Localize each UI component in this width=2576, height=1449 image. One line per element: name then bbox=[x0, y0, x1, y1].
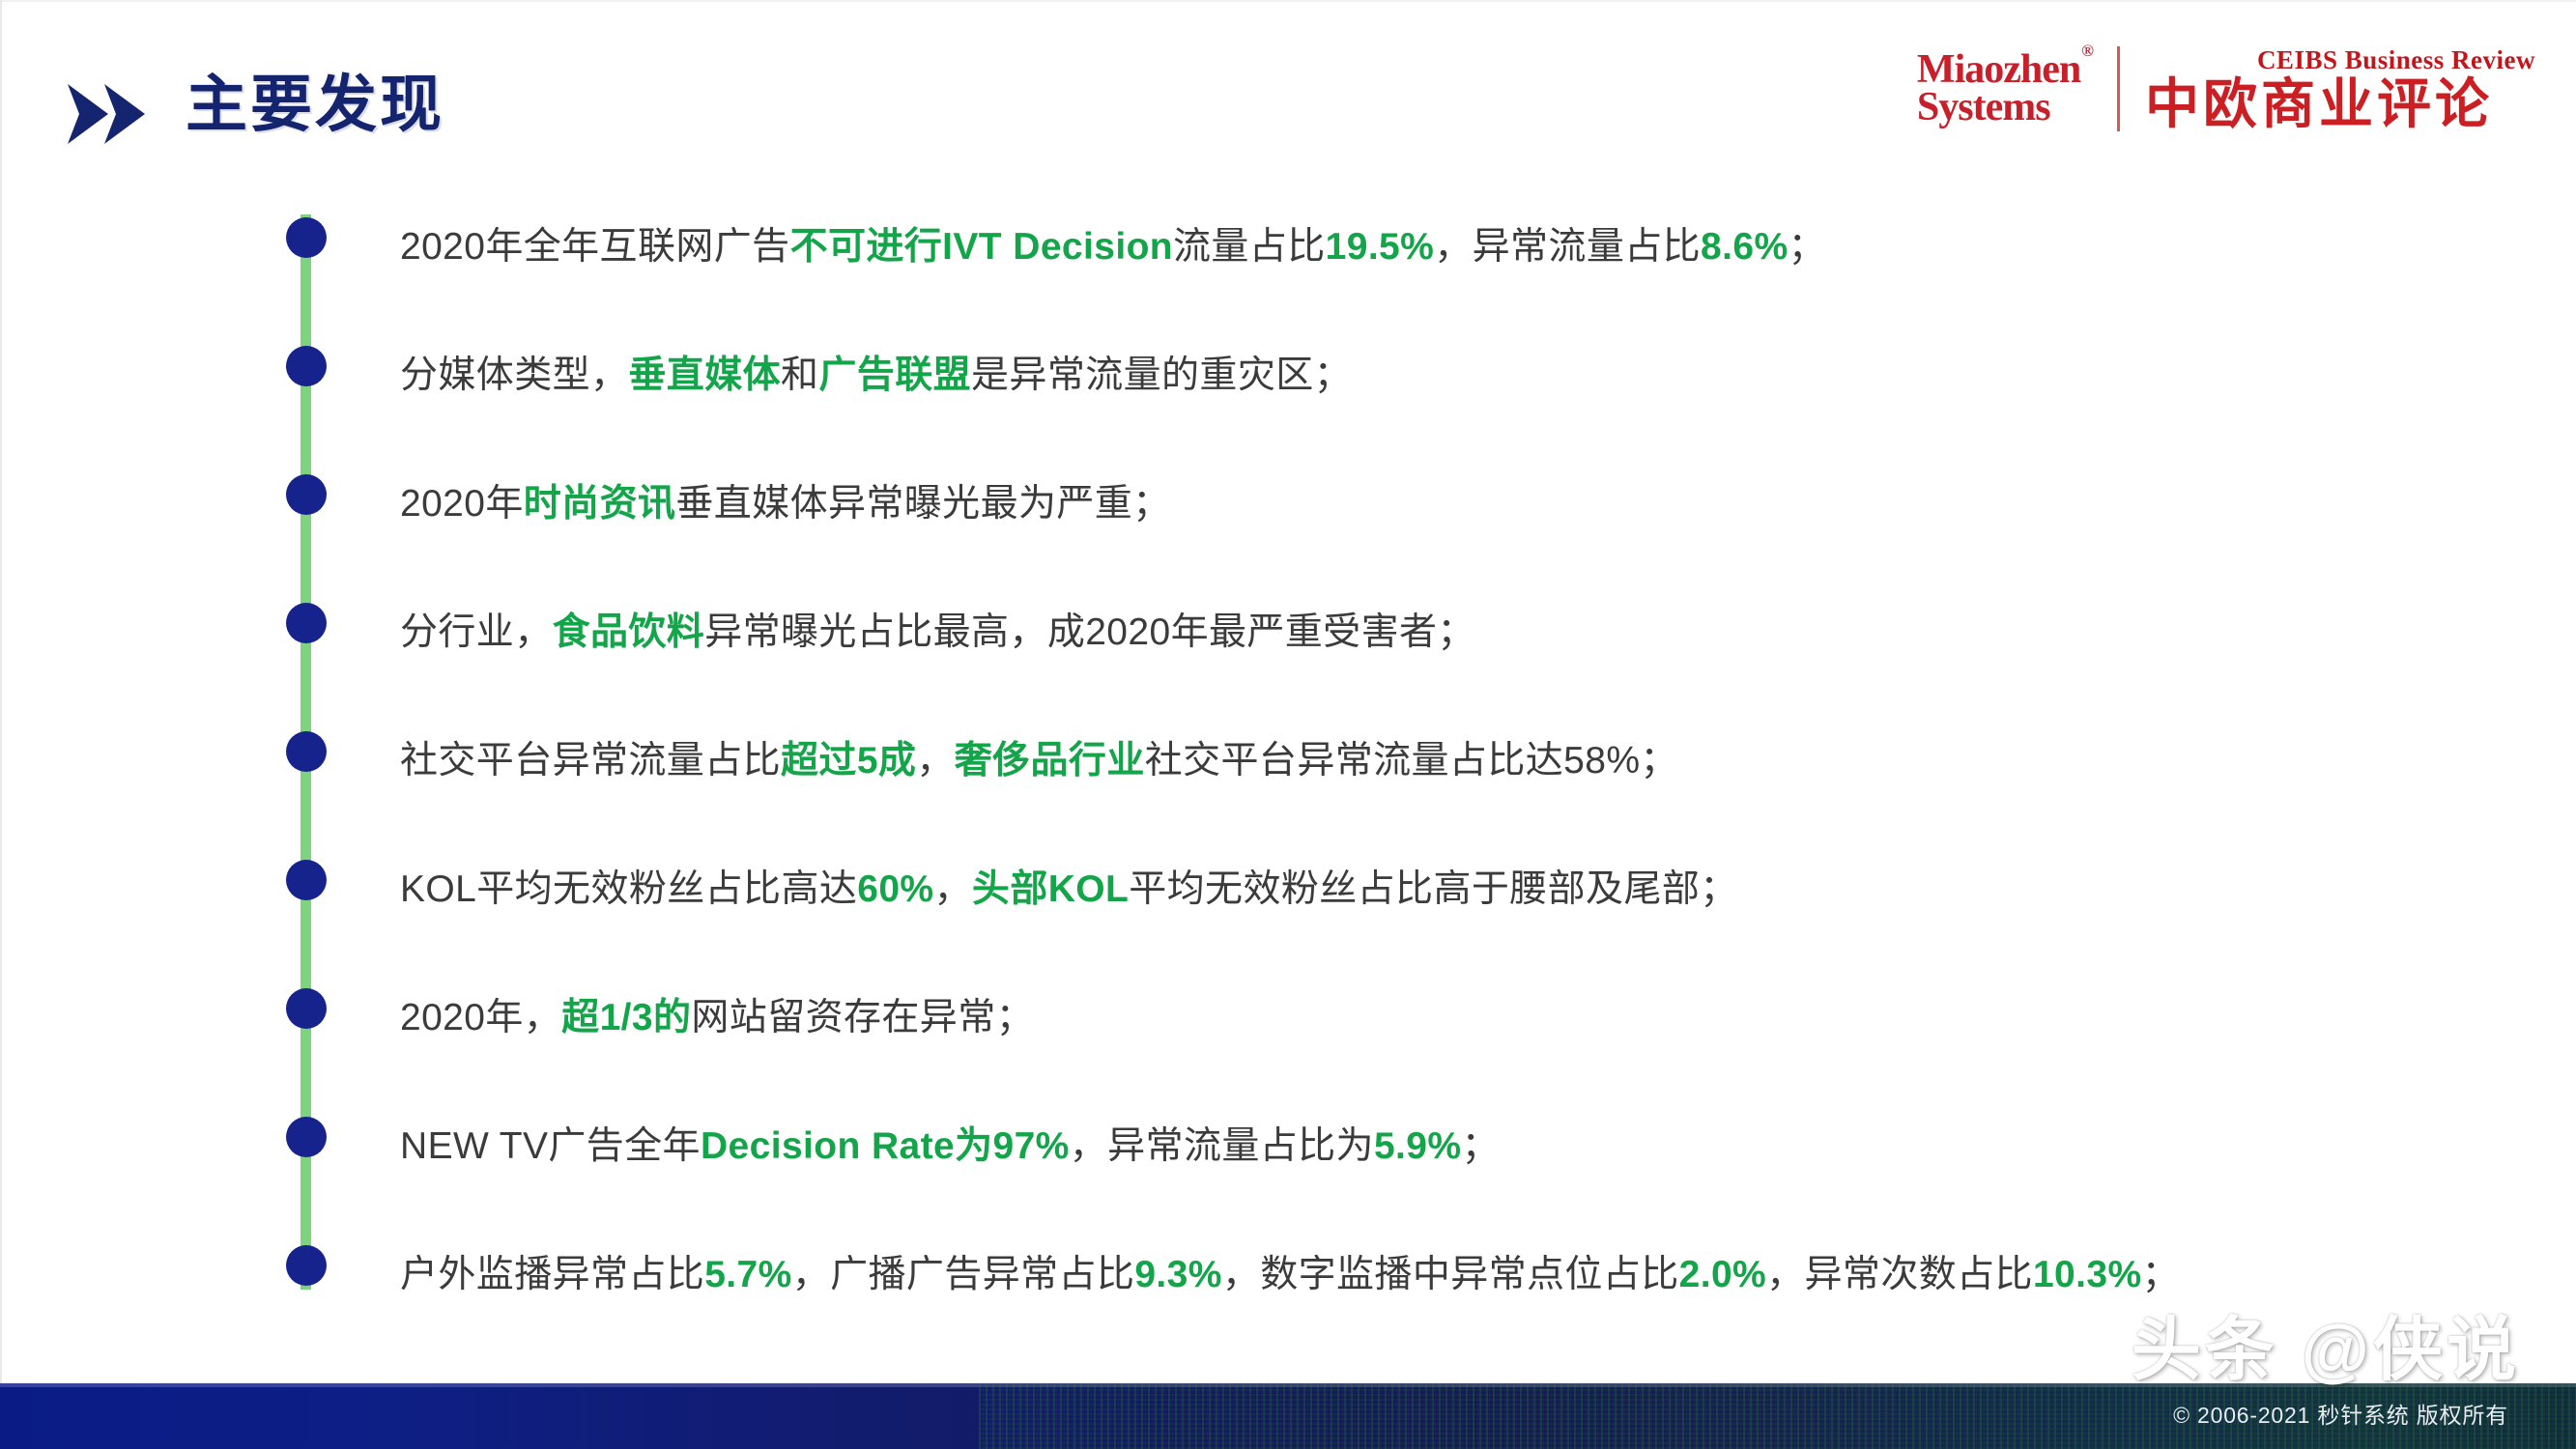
copyright-text: © 2006-2021 秒针系统 版权所有 bbox=[2173, 1397, 2508, 1430]
finding-plain: 2020年全年互联网广告 bbox=[400, 226, 790, 268]
timeline-bullet-dot bbox=[286, 603, 327, 643]
finding-text: 2020年，超1/3的网站留资存在异常； bbox=[400, 995, 1034, 1042]
finding-highlight: 5.7% bbox=[704, 1254, 792, 1295]
finding-plain: ，异常流量占比为 bbox=[1070, 1125, 1374, 1167]
finding-plain: ，异常流量占比 bbox=[1434, 226, 1701, 268]
finding-plain: ； bbox=[1461, 1125, 1499, 1167]
finding-highlight: 2.0% bbox=[1679, 1254, 1767, 1295]
finding-text: 2020年全年互联网广告不可进行IVT Decision流量占比19.5%，异常… bbox=[400, 224, 1826, 271]
finding-highlight: 60% bbox=[857, 868, 933, 910]
finding-highlight: 超1/3的 bbox=[561, 997, 691, 1038]
finding-plain: 和 bbox=[781, 355, 818, 396]
finding-highlight: 5.9% bbox=[1374, 1125, 1462, 1167]
finding-text: 2020年时尚资讯垂直媒体异常曝光最为严重； bbox=[400, 481, 1171, 528]
finding-item: NEW TV广告全年Decision Rate为97%，异常流量占比为5.9%； bbox=[400, 1083, 2487, 1211]
timeline-bullet-dot bbox=[286, 474, 327, 515]
timeline-bullet-dot bbox=[286, 1245, 327, 1286]
finding-plain: 流量占比 bbox=[1173, 226, 1326, 268]
finding-item: KOL平均无效粉丝占比高达60%，头部KOL平均无效粉丝占比高于腰部及尾部； bbox=[400, 826, 2487, 954]
finding-highlight: 广告联盟 bbox=[818, 355, 971, 396]
finding-plain: 垂直媒体异常曝光最为严重； bbox=[675, 483, 1170, 525]
footer-bar: © 2006-2021 秒针系统 版权所有 bbox=[0, 1383, 2576, 1449]
finding-plain: 分媒体类型， bbox=[400, 355, 628, 396]
finding-highlight: 9.3% bbox=[1134, 1254, 1222, 1295]
finding-item: 社交平台异常流量占比超过5成，奢侈品行业社交平台异常流量占比达58%； bbox=[400, 697, 2487, 826]
finding-plain: ， bbox=[916, 740, 954, 781]
finding-plain: ； bbox=[1789, 226, 1826, 268]
finding-text: KOL平均无效粉丝占比高达60%，头部KOL平均无效粉丝占比高于腰部及尾部； bbox=[400, 867, 1738, 914]
findings-list: 2020年全年互联网广告不可进行IVT Decision流量占比19.5%，异常… bbox=[400, 184, 2487, 1340]
finding-highlight: 超过5成 bbox=[781, 740, 916, 781]
finding-item: 分行业，食品饮料异常曝光占比最高，成2020年最严重受害者； bbox=[400, 569, 2487, 697]
finding-plain: 网站留资存在异常； bbox=[691, 997, 1034, 1038]
finding-plain: 分行业， bbox=[400, 611, 553, 653]
finding-item: 2020年时尚资讯垂直媒体异常曝光最为严重； bbox=[400, 440, 2487, 569]
timeline-bullet-dot bbox=[286, 988, 327, 1029]
finding-plain: NEW TV广告全年 bbox=[400, 1125, 701, 1167]
finding-plain: ， bbox=[934, 868, 972, 910]
finding-text: 分行业，食品饮料异常曝光占比最高，成2020年最严重受害者； bbox=[400, 610, 1475, 657]
finding-plain: ； bbox=[2142, 1254, 2180, 1295]
finding-plain: 户外监播异常占比 bbox=[400, 1254, 704, 1295]
finding-plain: 是异常流量的重灾区； bbox=[971, 355, 1352, 396]
finding-highlight: 头部KOL bbox=[972, 868, 1129, 910]
finding-plain: KOL平均无效粉丝占比高达 bbox=[400, 868, 857, 910]
timeline-bullet-dot bbox=[286, 217, 327, 258]
finding-text: 分媒体类型，垂直媒体和广告联盟是异常流量的重灾区； bbox=[400, 353, 1352, 400]
finding-highlight: 垂直媒体 bbox=[628, 355, 781, 396]
finding-plain: 社交平台异常流量占比达58%； bbox=[1145, 740, 1678, 781]
finding-text: NEW TV广告全年Decision Rate为97%，异常流量占比为5.9%； bbox=[400, 1123, 1500, 1171]
finding-plain: 平均无效粉丝占比高于腰部及尾部； bbox=[1129, 868, 1737, 910]
finding-text: 户外监播异常占比5.7%，广播广告异常占比9.3%，数字监播中异常点位占比2.0… bbox=[400, 1252, 2180, 1299]
finding-plain: ，数字监播中异常点位占比 bbox=[1222, 1254, 1679, 1295]
timeline-bullet-dot bbox=[286, 731, 327, 772]
finding-highlight: 8.6% bbox=[1701, 226, 1789, 268]
finding-item: 2020年全年互联网广告不可进行IVT Decision流量占比19.5%，异常… bbox=[400, 184, 2487, 312]
finding-plain: ，异常次数占比 bbox=[1766, 1254, 2033, 1295]
finding-highlight: 食品饮料 bbox=[553, 611, 705, 653]
finding-plain: 2020年， bbox=[400, 997, 561, 1038]
finding-item: 2020年，超1/3的网站留资存在异常； bbox=[400, 954, 2487, 1083]
finding-text: 社交平台异常流量占比超过5成，奢侈品行业社交平台异常流量占比达58%； bbox=[400, 738, 1678, 785]
slide-root: 主要发现 Miaozhen® Systems CEIBS Business Re… bbox=[0, 0, 2576, 1449]
finding-highlight: 19.5% bbox=[1326, 226, 1435, 268]
timeline-bullet-dot bbox=[286, 1117, 327, 1157]
finding-plain: 异常曝光占比最高，成2020年最严重受害者； bbox=[704, 611, 1475, 653]
timeline-bullet-dot bbox=[286, 860, 327, 900]
finding-plain: 2020年 bbox=[400, 483, 524, 525]
finding-highlight: 奢侈品行业 bbox=[955, 740, 1145, 781]
finding-highlight: 不可进行IVT Decision bbox=[790, 226, 1173, 268]
finding-item: 分媒体类型，垂直媒体和广告联盟是异常流量的重灾区； bbox=[400, 312, 2487, 440]
finding-plain: 社交平台异常流量占比 bbox=[400, 740, 781, 781]
timeline-bullet-dot bbox=[286, 346, 327, 386]
finding-highlight: 时尚资讯 bbox=[524, 483, 676, 525]
finding-highlight: 10.3% bbox=[2033, 1254, 2142, 1295]
watermark-text: 头条 @侠说 bbox=[2132, 1316, 2520, 1385]
finding-plain: ，广播广告异常占比 bbox=[792, 1254, 1135, 1295]
finding-highlight: Decision Rate为97% bbox=[701, 1125, 1070, 1167]
